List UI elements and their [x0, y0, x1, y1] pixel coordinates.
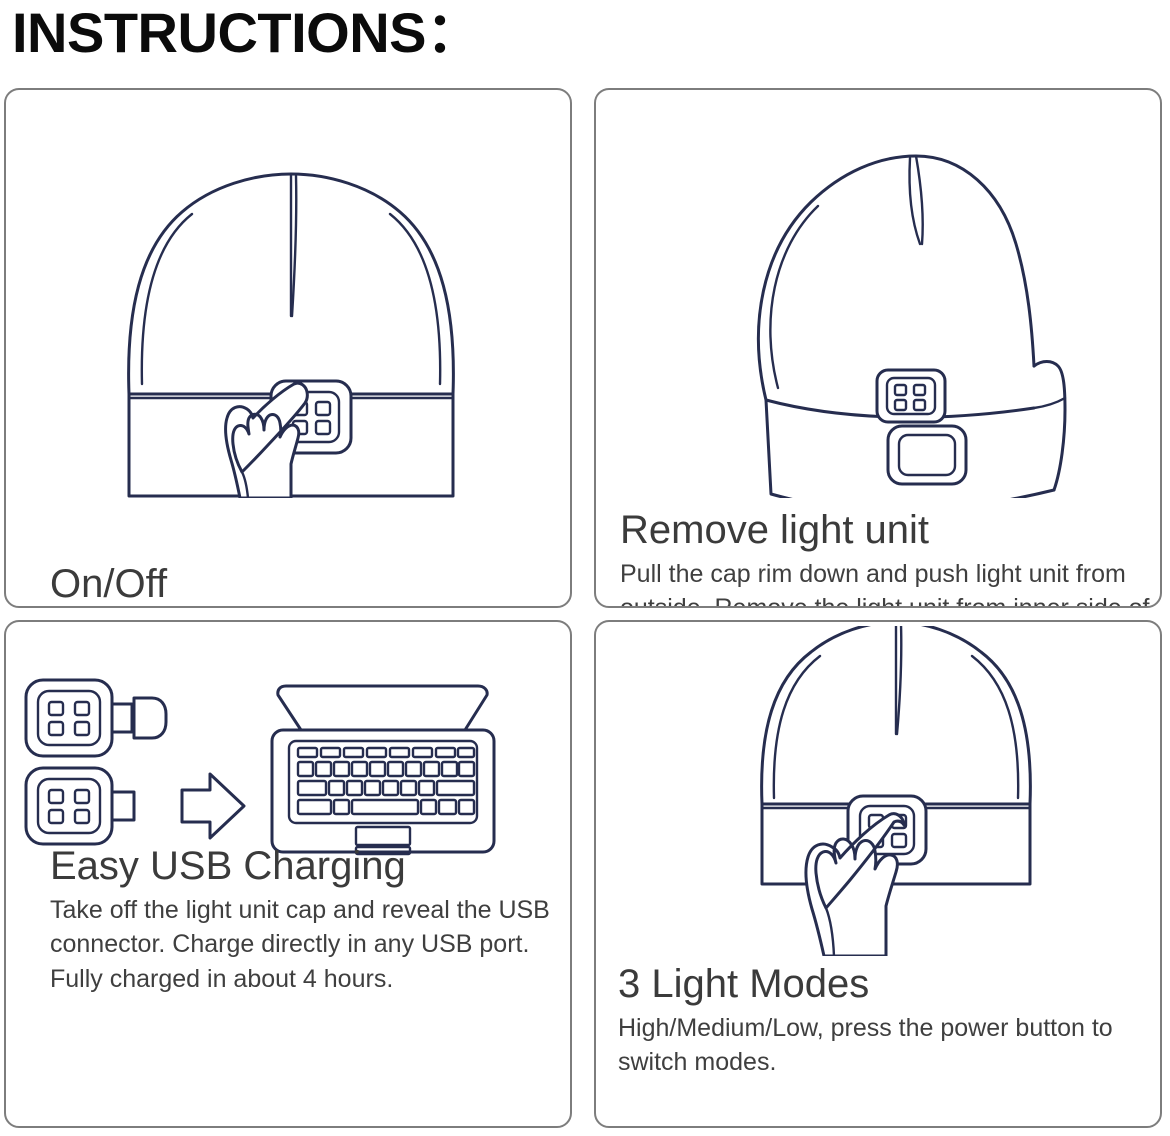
arrow-right-icon	[182, 774, 244, 838]
panel-heading: Easy USB Charging	[50, 844, 570, 889]
panel-heading: Remove light unit	[620, 508, 1160, 553]
page-title: INSTRUCTIONS：	[12, 0, 482, 68]
panel-body-text: Pull the cap rim down and push light uni…	[620, 557, 1160, 608]
instruction-panel-light-modes: 3 Light Modes High/Medium/Low, press the…	[594, 620, 1162, 1128]
panel-body-text: Take off the light unit cap and reveal t…	[50, 893, 570, 997]
light-unit-with-cap-icon	[26, 680, 166, 756]
laptop-icon	[272, 686, 494, 854]
beanie-button-press-illustration	[6, 98, 570, 498]
panel-caption: 3 Light Modes High/Medium/Low, press the…	[618, 962, 1160, 1080]
panel-heading: On/Off	[50, 562, 570, 607]
tilted-beanie-illustration	[596, 98, 1160, 498]
beanie-mode-switch-illustration	[596, 626, 1160, 956]
panel-caption: Easy USB Charging Take off the light uni…	[50, 844, 570, 996]
panel-body-text: High/Medium/Low, press the power button …	[618, 1011, 1160, 1080]
panel-heading: 3 Light Modes	[618, 962, 1160, 1007]
pointing-hand-icon	[226, 383, 308, 498]
instruction-panel-remove-light-unit: Remove light unit Pull the cap rim down …	[594, 88, 1162, 608]
panel-caption: Remove light unit Pull the cap rim down …	[620, 508, 1160, 608]
instruction-panel-grid: On/Off Press to turn on/off	[4, 88, 1166, 1128]
panel-caption: On/Off Press to turn on/off	[50, 562, 570, 608]
instruction-panel-usb-charging: Easy USB Charging Take off the light uni…	[4, 620, 572, 1128]
light-unit-usb-connector-icon	[26, 768, 134, 844]
instruction-panel-on-off: On/Off Press to turn on/off	[4, 88, 572, 608]
usb-charging-illustration	[6, 664, 570, 864]
